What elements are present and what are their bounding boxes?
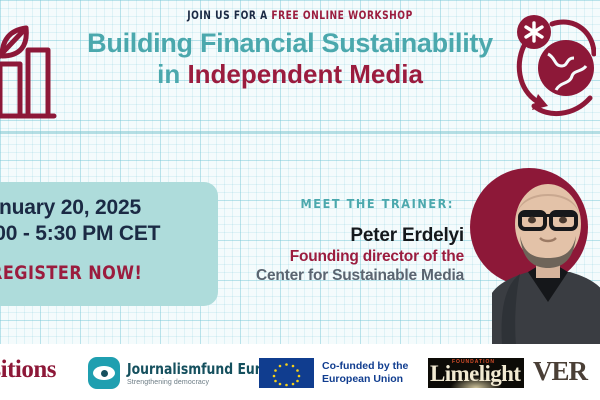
eyebrow-lead: JOIN US FOR A — [187, 8, 267, 22]
eu-funding-line-2: European Union — [322, 373, 408, 386]
verfassungsblog-wordmark: VER — [533, 356, 587, 386]
trainer-role: Founding director of the — [232, 248, 464, 266]
header-divider — [0, 131, 600, 134]
page-title: Building Financial Sustainability in Ind… — [60, 28, 520, 89]
journalismfund-eye-icon — [88, 357, 120, 389]
partner-logo-bar: nsitions Journalismfund Europe Strengthe… — [0, 344, 600, 400]
trainer-name: Peter Erdelyi — [232, 225, 464, 247]
event-date: January 20, 2025 — [0, 196, 202, 220]
eu-flag-icon — [259, 358, 314, 388]
headline-line-2: Independent Media — [187, 59, 422, 89]
workshop-poster: JOIN US FOR A FREE ONLINE WORKSHOP Build… — [0, 0, 600, 400]
headline-connector: in — [157, 59, 187, 89]
logo-transitions: nsitions — [0, 356, 56, 384]
headline-line-1: Building Financial Sustainability — [60, 28, 520, 58]
event-details-card: January 20, 2025 4:00 - 5:30 PM CET REGI… — [0, 182, 218, 306]
limelight-wordmark: Limelight — [430, 361, 520, 387]
bar-chart-leaf-icon — [0, 12, 68, 124]
event-time: 4:00 - 5:30 PM CET — [0, 222, 202, 246]
eyebrow-text: JOIN US FOR A FREE ONLINE WORKSHOP — [36, 8, 564, 22]
avatar — [492, 162, 600, 345]
meet-the-trainer-label: MEET THE TRAINER: — [232, 196, 464, 211]
logo-european-union: Co-funded by the European Union — [259, 358, 408, 388]
eyebrow-highlight: FREE ONLINE WORKSHOP — [271, 8, 412, 22]
trainer-block: MEET THE TRAINER: Peter Erdelyi Founding… — [232, 196, 464, 285]
logo-verfassungsblog: VER — [533, 356, 587, 387]
trainer-organization: Center for Sustainable Media — [232, 267, 464, 285]
eu-funding-line-1: Co-funded by the — [322, 360, 408, 373]
register-now-button[interactable]: REGISTER NOW! — [0, 262, 189, 284]
logo-limelight-foundation: FOUNDATION Limelight — [428, 358, 524, 388]
trainer-portrait — [470, 162, 600, 345]
